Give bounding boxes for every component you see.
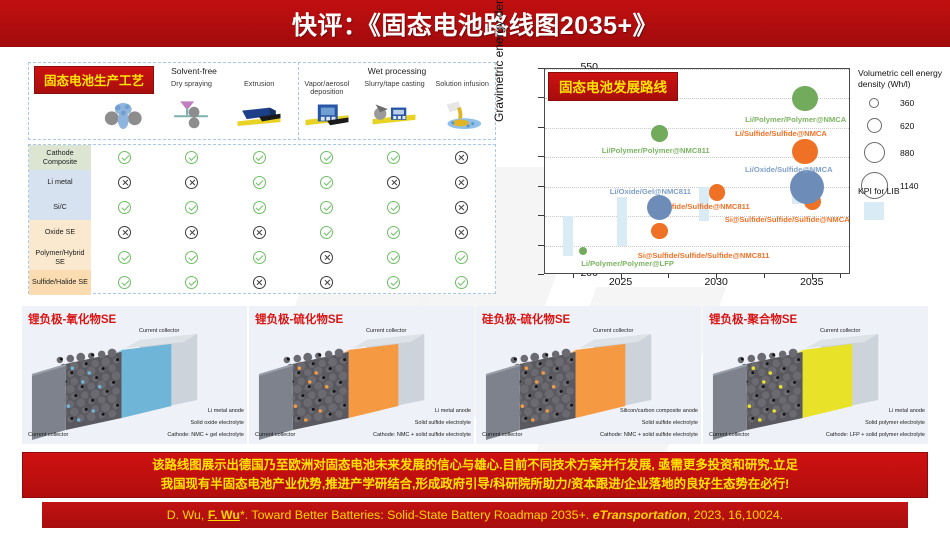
table-row: Polymer/Hybrid SE bbox=[29, 245, 495, 270]
cell-label-anode-2: Silicon/carbon composite anode bbox=[620, 408, 698, 414]
process-cell-0-5 bbox=[428, 145, 495, 170]
chart-x-minor-tick-0 bbox=[573, 274, 574, 278]
chart-gridline-y-1 bbox=[545, 246, 849, 247]
cross-circle-icon bbox=[253, 226, 266, 239]
chart-bubble-1 bbox=[651, 125, 668, 142]
cross-circle-icon bbox=[118, 176, 131, 189]
cross-circle-icon bbox=[320, 276, 333, 289]
citation-post: , 2023, 16,10024. bbox=[687, 508, 783, 522]
cross-circle-icon bbox=[455, 176, 468, 189]
chart-y-axis-label: Gravimetric energy density (Wh/kg) bbox=[492, 0, 506, 122]
check-circle-icon bbox=[185, 251, 198, 264]
chart-point-label-8: Li/Oxide/Sulfide@NMCA bbox=[745, 165, 833, 174]
chart-point-label-0: Li/Polymer/Polymer@LFP bbox=[581, 259, 674, 268]
size-legend-circle-2 bbox=[864, 142, 885, 163]
process-icon-2 bbox=[236, 96, 282, 136]
check-circle-icon bbox=[387, 201, 400, 214]
cell-label-top-2: Current collector bbox=[593, 328, 633, 334]
cross-circle-icon bbox=[455, 201, 468, 214]
check-circle-icon bbox=[387, 251, 400, 264]
chart-y-tickmark-0 bbox=[538, 274, 544, 275]
check-circle-icon bbox=[455, 276, 468, 289]
roadmap-chart-panel: 固态电池发展路线 Gravimetric energy density (Wh/… bbox=[500, 60, 950, 300]
cell-panel-3: 锂负极-聚合物SECurrent collectorCurrent collec… bbox=[703, 306, 928, 444]
cell-panel-2: 硅负极-硫化物SECurrent collectorCurrent collec… bbox=[476, 306, 701, 444]
chart-gridline-y-7 bbox=[545, 69, 849, 70]
process-column-header-5: Solution infusion bbox=[428, 80, 496, 88]
cell-diagram-2 bbox=[476, 326, 701, 444]
cell-label-collector-1: Current collector bbox=[255, 432, 295, 438]
summary-line-1: 该路线图展示出德国乃至欧洲对固态电池未来发展的信心与雄心.目前不同技术方案并行发… bbox=[152, 456, 798, 475]
cell-panel-0: 锂负极-氧化物SECurrent collectorCurrent collec… bbox=[22, 306, 247, 444]
chart-bubble-3 bbox=[651, 223, 668, 240]
process-cell-0-2 bbox=[226, 145, 293, 170]
chart-bubble-0 bbox=[579, 247, 587, 255]
process-cell-1-4 bbox=[360, 170, 427, 195]
process-cell-1-2 bbox=[226, 170, 293, 195]
cell-label-electrolyte-2: Solid sulfide electrolyte bbox=[642, 420, 698, 426]
table-row: Li metal bbox=[29, 170, 495, 195]
check-circle-icon bbox=[320, 201, 333, 214]
cross-circle-icon bbox=[185, 176, 198, 189]
process-cell-2-2 bbox=[226, 195, 293, 220]
cross-circle-icon bbox=[455, 151, 468, 164]
process-group-label-1: Wet processing bbox=[298, 66, 496, 76]
process-cell-2-5 bbox=[428, 195, 495, 220]
process-row-label-0: Cathode Composite bbox=[29, 145, 91, 170]
check-circle-icon bbox=[387, 151, 400, 164]
process-row-label-2: Si/C bbox=[29, 195, 91, 220]
check-circle-icon bbox=[253, 251, 266, 264]
process-cell-2-3 bbox=[293, 195, 360, 220]
citation-journal: eTransportation bbox=[593, 508, 687, 522]
check-circle-icon bbox=[320, 226, 333, 239]
cell-diagram-3 bbox=[703, 326, 928, 444]
page-title: 快评：《固态电池路线图2035+》 bbox=[292, 6, 658, 42]
chart-point-label-1: Li/Polymer/Polymer@NMC811 bbox=[602, 146, 710, 155]
cell-label-anode-0: Li metal anode bbox=[208, 408, 244, 414]
chart-x-tickmark-2 bbox=[812, 274, 813, 279]
process-row-label-5: Sulfide/Halide SE bbox=[29, 270, 91, 295]
process-cell-3-3 bbox=[293, 220, 360, 245]
cell-label-electrolyte-3: Solid polymer electrolyte bbox=[865, 420, 925, 426]
chart-point-label-6: Si@Sulfide/Sulfide/Sulfide@NMCA bbox=[725, 215, 850, 224]
cell-panel-title-1: 锂负极-硫化物SE bbox=[255, 311, 343, 327]
cell-label-cathode-2: Cathode: NMC + solid sulfide electrolyte bbox=[600, 432, 698, 438]
size-legend-value-1: 620 bbox=[900, 121, 914, 131]
process-cell-4-5 bbox=[428, 245, 495, 270]
size-legend-circle-1 bbox=[867, 118, 882, 133]
chart-x-minor-tick-1 bbox=[668, 274, 669, 278]
cell-diagram-0 bbox=[22, 326, 247, 444]
cell-label-anode-3: Li metal anode bbox=[889, 408, 925, 414]
cell-panel-title-2: 硅负极-硫化物SE bbox=[482, 311, 570, 327]
check-circle-icon bbox=[185, 201, 198, 214]
chart-bubble-2 bbox=[792, 86, 817, 111]
summary-line-2: 我国现有半固态电池产业优势,推进产学研结合,形成政府引导/科研院所助力/资本跟进… bbox=[161, 475, 789, 494]
check-circle-icon bbox=[253, 201, 266, 214]
check-circle-icon bbox=[320, 151, 333, 164]
table-row: Oxide SE bbox=[29, 220, 495, 245]
process-matrix-panel: 固态电池生产工艺 Solvent-freeWet processingDry c… bbox=[28, 62, 496, 294]
citation-text: D. Wu, F. Wu*. Toward Better Batteries: … bbox=[167, 508, 784, 522]
chart-bubble-4 bbox=[709, 184, 726, 201]
process-column-header-3: Vapor/aerosol deposition bbox=[293, 80, 361, 96]
process-cell-3-4 bbox=[360, 220, 427, 245]
process-icon-4 bbox=[371, 96, 417, 136]
process-icon-0 bbox=[101, 96, 147, 136]
process-cell-5-2 bbox=[226, 270, 293, 295]
size-legend-value-3: 1140 bbox=[900, 181, 918, 191]
check-circle-icon bbox=[185, 276, 198, 289]
cell-label-anode-1: Li metal anode bbox=[435, 408, 471, 414]
process-column-header-1: Dry spraying bbox=[158, 80, 226, 88]
process-icon-5 bbox=[439, 96, 485, 136]
process-cell-4-3 bbox=[293, 245, 360, 270]
cell-panel-title-3: 锂负极-聚合物SE bbox=[709, 311, 797, 327]
check-circle-icon bbox=[185, 151, 198, 164]
check-circle-icon bbox=[118, 251, 131, 264]
process-cell-5-5 bbox=[428, 270, 495, 295]
cell-label-top-3: Current collector bbox=[820, 328, 860, 334]
citation-author: F. Wu bbox=[208, 508, 240, 522]
check-circle-icon bbox=[387, 276, 400, 289]
process-cell-5-1 bbox=[158, 270, 225, 295]
process-cell-1-5 bbox=[428, 170, 495, 195]
process-cell-1-3 bbox=[293, 170, 360, 195]
cell-label-electrolyte-1: Solid sulfide electrolyte bbox=[415, 420, 471, 426]
cell-illustrations-row: 锂负极-氧化物SECurrent collectorCurrent collec… bbox=[22, 306, 928, 444]
cell-diagram-1 bbox=[249, 326, 474, 444]
chart-bubble-8 bbox=[790, 170, 824, 204]
kpi-legend-label: KPI for LIB bbox=[858, 186, 900, 196]
check-circle-icon bbox=[387, 226, 400, 239]
size-legend-value-2: 880 bbox=[900, 148, 914, 158]
table-row: Cathode Composite bbox=[29, 145, 495, 170]
process-icon-3 bbox=[304, 96, 350, 136]
chart-kpi-bar-0 bbox=[563, 216, 573, 256]
cross-circle-icon bbox=[387, 176, 400, 189]
cell-label-electrolyte-0: Solid oxide electrolyte bbox=[190, 420, 244, 426]
check-circle-icon bbox=[253, 151, 266, 164]
process-cell-4-2 bbox=[226, 245, 293, 270]
check-circle-icon bbox=[320, 176, 333, 189]
process-cell-1-1 bbox=[158, 170, 225, 195]
size-legend-value-0: 360 bbox=[900, 98, 914, 108]
chart-legend: Volumetric cell energy density (Wh/l) 36… bbox=[858, 68, 950, 90]
process-cell-3-0 bbox=[91, 220, 158, 245]
cell-label-top-0: Current collector bbox=[139, 328, 179, 334]
cell-label-cathode-1: Cathode: NMC + solid sulfide electrolyte bbox=[373, 432, 471, 438]
cross-circle-icon bbox=[253, 276, 266, 289]
process-cell-2-4 bbox=[360, 195, 427, 220]
citation-pre: D. Wu, bbox=[167, 508, 208, 522]
process-row-label-4: Polymer/Hybrid SE bbox=[29, 245, 91, 270]
check-circle-icon bbox=[253, 176, 266, 189]
cell-label-cathode-3: Cathode: LFP + solid polymer electrolyte bbox=[826, 432, 925, 438]
cell-label-collector-2: Current collector bbox=[482, 432, 522, 438]
chart-x-minor-tick-3 bbox=[840, 274, 841, 278]
summary-box: 该路线图展示出德国乃至欧洲对固态电池未来发展的信心与雄心.目前不同技术方案并行发… bbox=[22, 452, 928, 498]
process-matrix-table: Cathode CompositeLi metalSi/COxide SEPol… bbox=[28, 144, 496, 294]
chart-point-label-5: Li/Sulfide/Sulfide@NMCA bbox=[735, 129, 827, 138]
check-circle-icon bbox=[118, 201, 131, 214]
process-cell-3-1 bbox=[158, 220, 225, 245]
chart-x-tickmark-1 bbox=[716, 274, 717, 279]
cross-circle-icon bbox=[455, 226, 468, 239]
check-circle-icon bbox=[118, 151, 131, 164]
check-circle-icon bbox=[118, 276, 131, 289]
process-cell-2-0 bbox=[91, 195, 158, 220]
process-column-header-2: Extrusion bbox=[225, 80, 293, 88]
chart-x-tickmark-0 bbox=[621, 274, 622, 279]
size-legend-circle-0 bbox=[869, 98, 879, 108]
citation-mid: *. Toward Better Batteries: Solid-State … bbox=[240, 508, 593, 522]
process-row-label-1: Li metal bbox=[29, 170, 91, 195]
table-row: Si/C bbox=[29, 195, 495, 220]
citation-box: D. Wu, F. Wu*. Toward Better Batteries: … bbox=[42, 502, 908, 528]
process-row-label-3: Oxide SE bbox=[29, 220, 91, 245]
cell-panel-1: 锂负极-硫化物SECurrent collectorCurrent collec… bbox=[249, 306, 474, 444]
size-legend-title: Volumetric cell energy density (Wh/l) bbox=[858, 68, 950, 90]
cell-label-top-1: Current collector bbox=[366, 328, 406, 334]
cross-circle-icon bbox=[320, 251, 333, 264]
chart-banner: 固态电池发展路线 bbox=[548, 72, 678, 101]
kpi-legend-swatch bbox=[864, 202, 884, 220]
process-cell-0-3 bbox=[293, 145, 360, 170]
process-cell-5-4 bbox=[360, 270, 427, 295]
process-icon-1 bbox=[168, 96, 214, 136]
cross-circle-icon bbox=[185, 226, 198, 239]
chart-kpi-bar-1 bbox=[617, 197, 627, 245]
cell-label-collector-3: Current collector bbox=[709, 432, 749, 438]
process-cell-1-0 bbox=[91, 170, 158, 195]
process-column-header-4: Slurry/tape casting bbox=[361, 80, 429, 88]
chart-point-label-7: Li/Oxide/Gel@NMC811 bbox=[610, 187, 691, 196]
cell-panel-title-0: 锂负极-氧化物SE bbox=[28, 311, 116, 327]
process-cell-0-0 bbox=[91, 145, 158, 170]
table-row: Sulfide/Halide SE bbox=[29, 270, 495, 295]
process-cell-4-0 bbox=[91, 245, 158, 270]
title-bar: 快评：《固态电池路线图2035+》 bbox=[0, 0, 950, 47]
cell-label-collector-0: Current collector bbox=[28, 432, 68, 438]
cross-circle-icon bbox=[118, 226, 131, 239]
process-cell-5-3 bbox=[293, 270, 360, 295]
process-cell-0-4 bbox=[360, 145, 427, 170]
chart-point-label-3: Si@Sulfide/Sulfide/Sulfide@NMC811 bbox=[638, 251, 770, 260]
process-cell-4-4 bbox=[360, 245, 427, 270]
process-cell-3-5 bbox=[428, 220, 495, 245]
process-cell-4-1 bbox=[158, 245, 225, 270]
process-cell-0-1 bbox=[158, 145, 225, 170]
process-cell-2-1 bbox=[158, 195, 225, 220]
cell-label-cathode-0: Cathode: NMC + gel electrolyte bbox=[167, 432, 244, 438]
chart-bubble-5 bbox=[792, 139, 817, 164]
process-panel-banner: 固态电池生产工艺 bbox=[34, 66, 154, 94]
chart-point-label-2: Li/Polymer/Polymer@NMCA bbox=[745, 115, 846, 124]
process-cell-5-0 bbox=[91, 270, 158, 295]
process-cell-3-2 bbox=[226, 220, 293, 245]
chart-x-minor-tick-2 bbox=[764, 274, 765, 278]
check-circle-icon bbox=[455, 251, 468, 264]
